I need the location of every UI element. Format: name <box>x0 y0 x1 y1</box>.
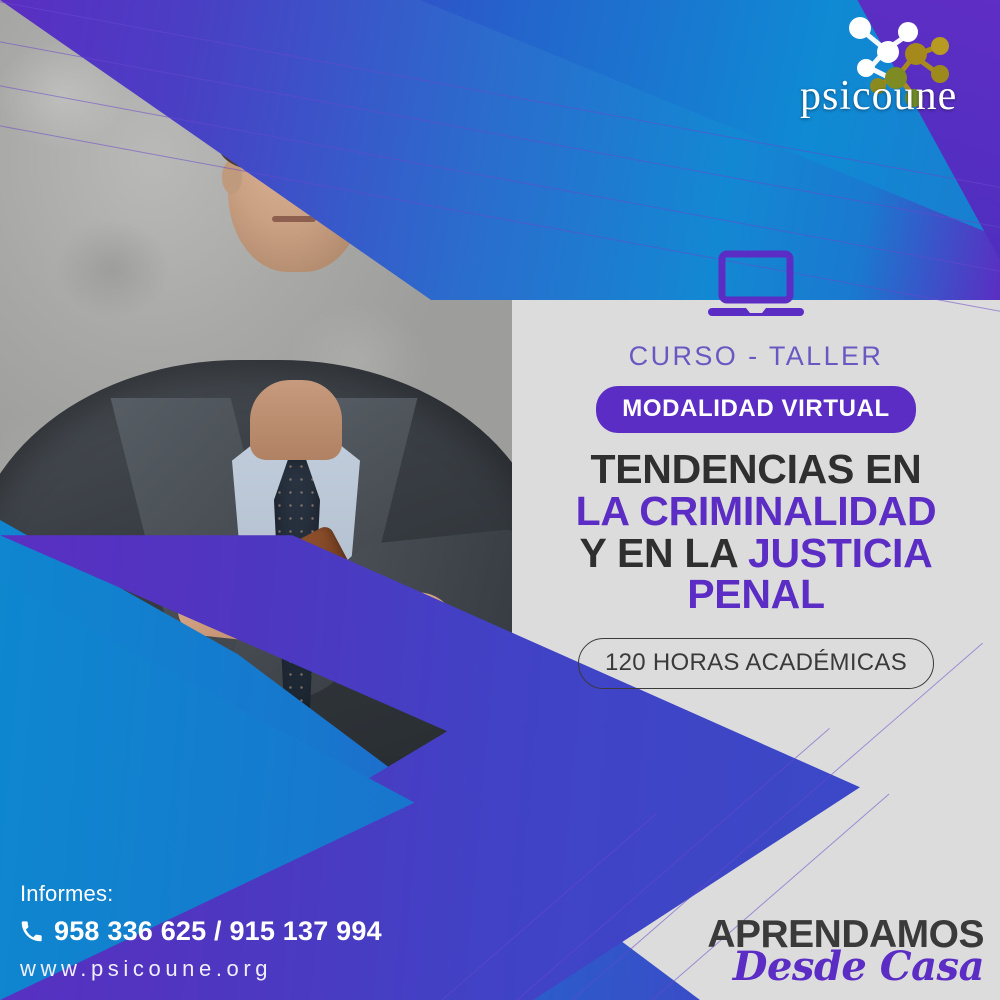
title-line-3-dark: Y EN LA <box>580 530 748 576</box>
tagline-block: APRENDAMOS Desde Casa <box>707 915 984 986</box>
website-url[interactable]: www.psicoune.org <box>20 956 382 982</box>
title-line-3-highlight: JUSTICIA <box>748 530 932 576</box>
course-kicker: CURSO - TALLER <box>629 341 884 372</box>
laptop-icon <box>708 250 804 323</box>
promo-poster: psicoune CURSO - TALLER MODALIDAD VIRTUA… <box>0 0 1000 1000</box>
title-line-2: LA CRIMINALIDAD <box>576 491 937 533</box>
course-info-panel: CURSO - TALLER MODALIDAD VIRTUAL TENDENC… <box>512 0 1000 800</box>
hours-badge: 120 HORAS ACADÉMICAS <box>578 638 934 689</box>
title-line-3: Y EN LA JUSTICIA <box>576 533 937 575</box>
modality-badge: MODALIDAD VIRTUAL <box>596 386 916 433</box>
course-title: TENDENCIAS EN LA CRIMINALIDAD Y EN LA JU… <box>576 449 937 616</box>
tagline-line-2: Desde Casa <box>707 948 984 986</box>
phone-numbers: 958 336 625 / 915 137 994 <box>54 916 382 947</box>
contact-label: Informes: <box>20 881 382 907</box>
title-line-1: TENDENCIAS EN <box>576 449 937 491</box>
phone-icon <box>20 920 43 943</box>
neck <box>250 380 342 460</box>
title-line-4: PENAL <box>576 574 937 616</box>
contact-block: Informes: 958 336 625 / 915 137 994 www.… <box>20 881 382 982</box>
mouth <box>272 216 316 222</box>
phone-row[interactable]: 958 336 625 / 915 137 994 <box>20 916 382 947</box>
